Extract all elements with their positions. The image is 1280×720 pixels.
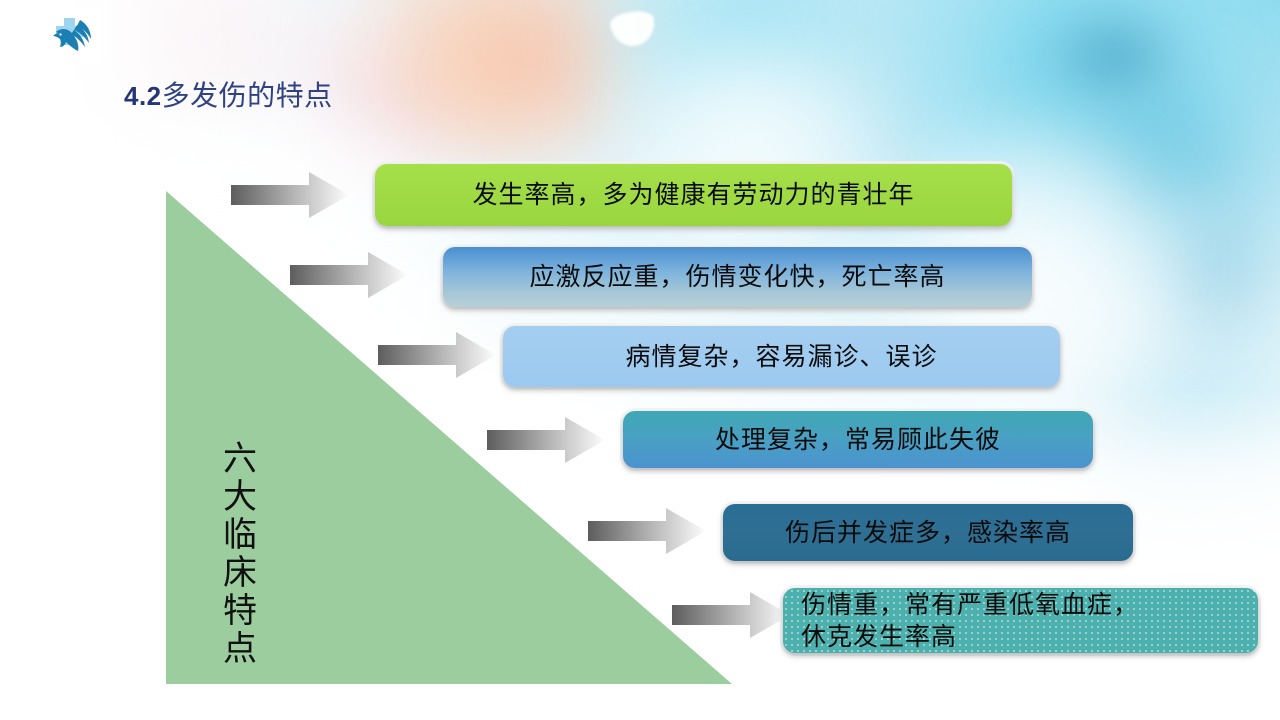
triangle-label-char-4: 床 — [210, 554, 270, 592]
dove-medical-cross-logo-icon — [44, 8, 100, 64]
feature-box-4-text: 处理复杂，常易顾此失彼 — [623, 424, 1093, 456]
feature-box-3[interactable]: 病情复杂，容易漏诊、误诊 — [503, 326, 1060, 387]
triangle-label-char-3: 临 — [210, 516, 270, 554]
feature-box-1-text: 发生率高，多为健康有劳动力的青壮年 — [375, 179, 1012, 211]
feature-box-6-text-line1: 伤情重，常有严重低氧血症， — [801, 589, 1258, 621]
triangle-label-char-6: 点 — [210, 630, 270, 668]
background-blob-teal — [1040, 0, 1190, 110]
feature-box-1[interactable]: 发生率高，多为健康有劳动力的青壮年 — [375, 164, 1012, 226]
triangle-label-char-2: 大 — [210, 478, 270, 516]
page-title: 4.2多发伤的特点 — [124, 79, 333, 114]
right-arrow-icon-2 — [290, 252, 408, 298]
feature-box-3-text: 病情复杂，容易漏诊、误诊 — [503, 341, 1060, 373]
feature-box-2-text: 应激反应重，伤情变化快，死亡率高 — [443, 261, 1032, 293]
feature-box-5-text: 伤后并发症多，感染率高 — [723, 517, 1133, 549]
right-arrow-icon-6 — [672, 592, 790, 638]
feature-box-6[interactable]: 伤情重，常有严重低氧血症， 休克发生率高 — [783, 588, 1258, 653]
feature-box-5[interactable]: 伤后并发症多，感染率高 — [723, 504, 1133, 561]
page-title-text: 多发伤的特点 — [162, 79, 333, 112]
page-title-number: 4.2 — [124, 81, 162, 111]
triangle-label-char-5: 特 — [210, 592, 270, 630]
slide-canvas: 4.2多发伤的特点 六 大 临 床 特 点 — [0, 0, 1280, 720]
right-arrow-icon-5 — [588, 508, 706, 554]
triangle-vertical-label: 六 大 临 床 特 点 — [210, 440, 270, 668]
feature-box-6-text-line2: 休克发生率高 — [801, 621, 1258, 653]
triangle-label-char-1: 六 — [210, 440, 270, 478]
right-arrow-icon-4 — [487, 417, 605, 463]
feature-box-2[interactable]: 应激反应重，伤情变化快，死亡率高 — [443, 247, 1032, 307]
right-arrow-icon-3 — [378, 332, 496, 378]
right-arrow-icon-1 — [231, 172, 349, 218]
feature-box-4[interactable]: 处理复杂，常易顾此失彼 — [623, 411, 1093, 468]
feature-box-6-text-wrap: 伤情重，常有严重低氧血症， 休克发生率高 — [783, 589, 1258, 653]
